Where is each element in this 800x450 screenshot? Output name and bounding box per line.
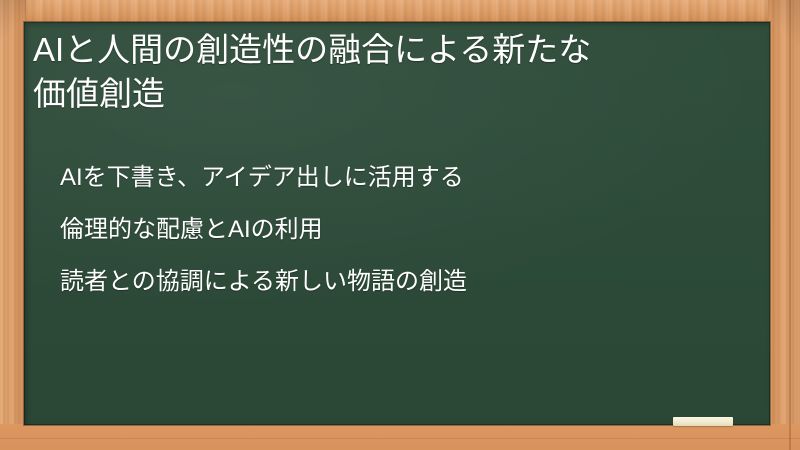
bullet-list: AIを下書き、アイデア出しに活用する 倫理的な配慮とAIの利用 読者との協調によ… [60,152,750,308]
frame-grain-line-right [789,0,791,450]
frame-left-rail [0,0,26,450]
frame-right-rail [768,0,800,450]
frame-top-rail [0,0,800,24]
list-item: 読者との協調による新しい物語の創造 [60,256,750,308]
blackboard-slide: AIと人間の創造性の融合による新たな 価値創造 AIを下書き、アイデア出しに活用… [0,0,800,450]
blackboard-surface: AIと人間の創造性の融合による新たな 価値創造 AIを下書き、アイデア出しに活用… [24,22,770,425]
slide-title: AIと人間の創造性の融合による新たな 価値創造 [33,28,749,116]
frame-grain-line-bottom [0,438,800,439]
frame-bottom-rail [0,424,800,450]
list-item: 倫理的な配慮とAIの利用 [60,204,750,256]
chalk-stick-icon [673,417,733,426]
list-item: AIを下書き、アイデア出しに活用する [60,152,750,204]
